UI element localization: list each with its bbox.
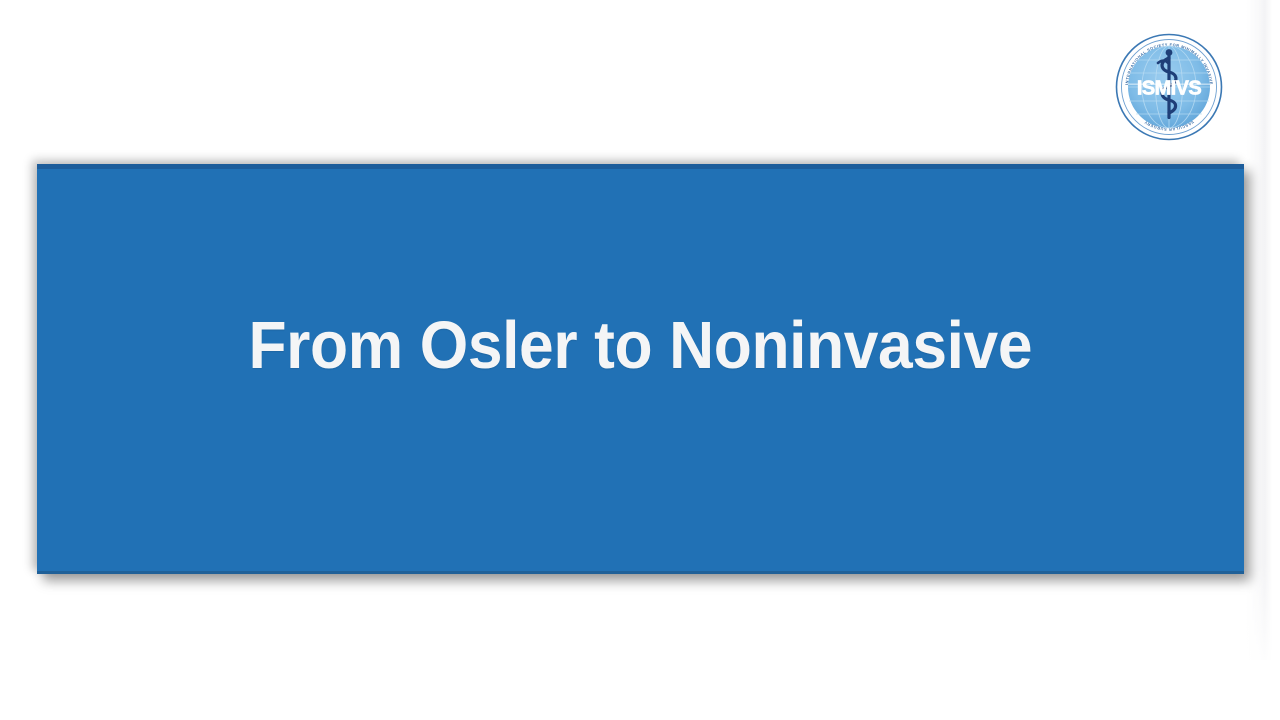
slide-right-edge-fade xyxy=(1246,560,1280,680)
ismivs-logo: INTERNATIONAL SOCIETY FOR MINIMALLY INVA… xyxy=(1114,32,1224,142)
slide-title: From Osler to Noninvasive xyxy=(249,169,1033,381)
logo-wordmark: ISMIVS xyxy=(1137,78,1201,100)
presentation-slide: INTERNATIONAL SOCIETY FOR MINIMALLY INVA… xyxy=(0,0,1280,720)
slide-right-edge xyxy=(1246,0,1280,660)
content-box: From Osler to Noninvasive xyxy=(37,164,1244,574)
